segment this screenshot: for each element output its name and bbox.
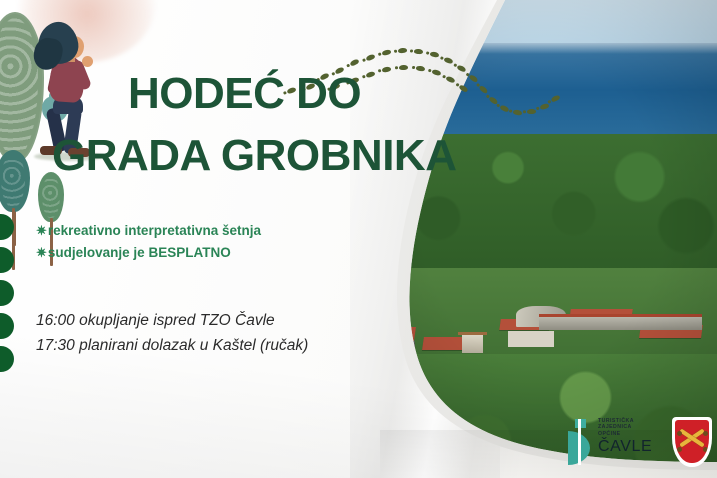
list-item: ✷sudjelovanje je BESPLATNO (36, 242, 261, 264)
schedule-list: 16:00 okupljanje ispred TZO Čavle 17:30 … (36, 308, 308, 358)
poster: HODEĆ DO GRADA GROBNIKA ✷rekreativno int… (0, 0, 717, 478)
dot (0, 313, 14, 339)
sabre-hilt (677, 447, 682, 452)
tourist-board-logo: TURISTIČKA ZAJEDNICA OPĆINE ČAVLE (566, 416, 662, 470)
shield-icon (672, 417, 712, 467)
bullet-list: ✷rekreativno interpretativna šetnja ✷sud… (36, 220, 261, 264)
schedule-item: 16:00 okupljanje ispred TZO Čavle (36, 308, 308, 333)
sabre-hilt (703, 447, 708, 452)
star-icon: ✷ (36, 223, 47, 238)
list-item-label: rekreativno interpretativna šetnja (48, 223, 261, 238)
star-icon: ✷ (36, 245, 47, 260)
tz-name: ČAVLE (598, 438, 652, 455)
dot (0, 247, 14, 273)
tz-line-3: OPĆINE (598, 431, 652, 437)
title-line-1: HODEĆ DO (128, 72, 361, 116)
dot (0, 214, 14, 240)
dot-column (0, 214, 14, 379)
schedule-item: 17:30 planirani dolazak u Kaštel (ručak) (36, 333, 308, 358)
list-item-label: sudjelovanje je BESPLATNO (48, 245, 231, 260)
tz-mark-icon (568, 419, 594, 465)
tourist-board-text: TURISTIČKA ZAJEDNICA OPĆINE ČAVLE (598, 418, 652, 455)
logo-group: TURISTIČKA ZAJEDNICA OPĆINE ČAVLE (566, 416, 714, 474)
list-item: ✷rekreativno interpretativna šetnja (36, 220, 261, 242)
front-hand (82, 56, 93, 67)
dot (0, 280, 14, 306)
title-line-2: GRADA GROBNIKA (52, 134, 456, 178)
dot (0, 346, 14, 372)
tz-divider (578, 419, 581, 465)
sabre-hilt (703, 431, 708, 436)
sabre-hilt (677, 431, 682, 436)
shield-field (675, 420, 709, 463)
coat-of-arms (672, 417, 712, 469)
